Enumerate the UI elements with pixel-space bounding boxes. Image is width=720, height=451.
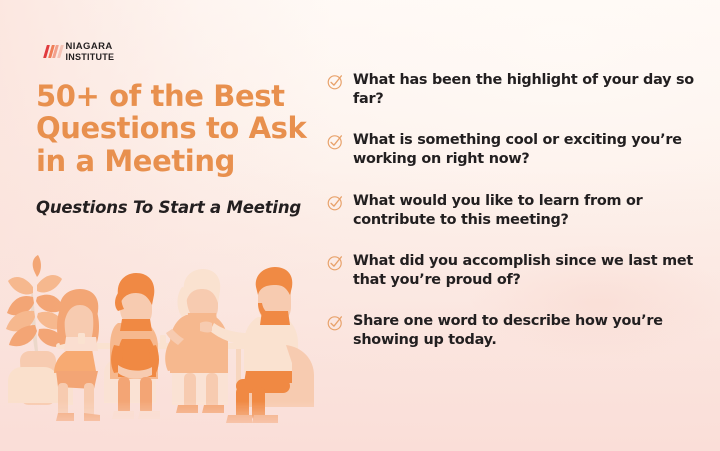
list-item: What did you accomplish since we last me… (326, 252, 698, 290)
question-text: What is something cool or exciting you’r… (353, 131, 698, 169)
brand-logo: NIAGARA INSTITUTE (45, 42, 114, 62)
list-item: Share one word to describe how you’re sh… (326, 312, 698, 350)
check-circle-icon (326, 193, 345, 212)
list-item: What is something cool or exciting you’r… (326, 131, 698, 169)
check-circle-icon (326, 313, 345, 332)
question-list: What has been the highlight of your day … (326, 71, 698, 351)
check-circle-icon (326, 253, 345, 272)
person-3 (165, 269, 228, 413)
logo-name-line1: NIAGARA (66, 42, 115, 52)
question-text: What would you like to learn from or con… (353, 192, 698, 230)
list-item: What would you like to learn from or con… (326, 192, 698, 230)
person-2 (104, 273, 160, 419)
question-text: What has been the highlight of your day … (353, 71, 698, 109)
question-text: Share one word to describe how you’re sh… (353, 312, 698, 350)
infographic-canvas: NIAGARA INSTITUTE 50+ of the Best Questi… (0, 0, 720, 451)
question-text: What did you accomplish since we last me… (353, 252, 698, 290)
check-circle-icon (326, 72, 345, 91)
check-circle-icon (326, 132, 345, 151)
logo-name-line2: INSTITUTE (66, 53, 115, 62)
page-title: 50+ of the Best Questions to Ask in a Me… (36, 80, 326, 177)
logo-wordmark: NIAGARA INSTITUTE (66, 42, 115, 62)
page-subtitle: Questions To Start a Meeting (36, 198, 336, 217)
logo-bars-icon (45, 45, 62, 58)
meeting-illustration (0, 253, 320, 443)
list-item: What has been the highlight of your day … (326, 71, 698, 109)
